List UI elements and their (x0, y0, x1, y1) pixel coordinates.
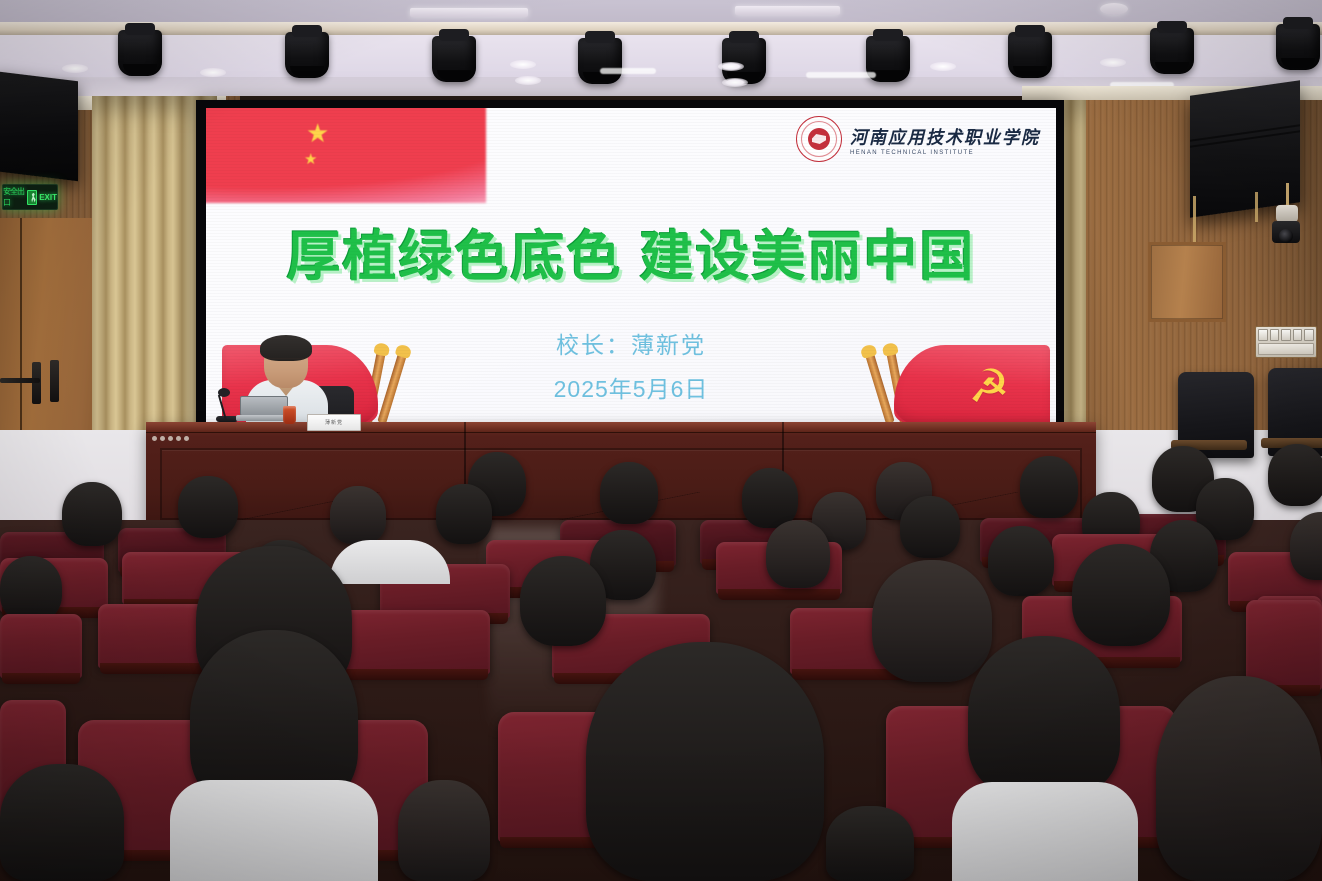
flag-star-icon: ★ (306, 120, 329, 146)
podium-dot (176, 436, 181, 441)
auditorium-photo: 安全出口 EXIT (0, 0, 1322, 881)
audience-head (0, 764, 124, 881)
spotlight (285, 32, 329, 78)
audience-head (1072, 544, 1170, 646)
ceiling-light-strip (600, 68, 656, 74)
door-push-bar[interactable] (0, 378, 40, 383)
institution-logo: 河南应用技术职业学院 HENAN TECHNICAL INSTITUTE (796, 116, 1040, 162)
podium-dot (184, 436, 189, 441)
microphone-head-icon (218, 388, 230, 397)
audience-head (178, 476, 238, 538)
camera-mount (1276, 205, 1298, 222)
recessed-downlight (200, 68, 226, 77)
nameplate-label: 薄新党 (325, 419, 343, 426)
seal-icon (796, 116, 842, 162)
ptz-camera (1270, 205, 1304, 245)
switch-row[interactable] (1258, 329, 1314, 341)
flag-pole-tip-icon (860, 343, 878, 359)
spotlight (1008, 32, 1052, 78)
audience-head (1020, 456, 1078, 518)
audience-shoulders (170, 780, 378, 881)
audience-head (766, 520, 830, 588)
camera-mount-arm (1286, 183, 1289, 207)
side-armchair (1268, 368, 1322, 456)
glasses-icon (268, 358, 304, 366)
audience-head (742, 468, 798, 528)
ceiling-light-strip (806, 72, 876, 78)
light-switch-panel[interactable] (1255, 326, 1317, 358)
side-armchair (1178, 372, 1254, 458)
light-switch[interactable] (1281, 329, 1291, 341)
podium-dot (152, 436, 157, 441)
light-switch[interactable] (1304, 329, 1314, 341)
seal-core-icon (808, 128, 830, 150)
light-switch[interactable] (1258, 329, 1268, 341)
ceiling-soffit-face (0, 35, 1322, 77)
audience-head (600, 462, 658, 524)
institution-name-cn: 河南应用技术职业学院 (850, 122, 1040, 148)
ceiling-light-slot (410, 8, 528, 17)
door-handle[interactable] (50, 360, 59, 402)
audience-head (398, 780, 490, 881)
spotlight (722, 38, 766, 84)
china-flag-graphic (206, 108, 486, 203)
party-flag-graphic-right: ☭ (860, 327, 1050, 423)
nameplate: 薄新党 (307, 414, 361, 431)
recessed-downlight (1100, 58, 1126, 67)
slide-headline: 厚植绿色底色 建设美丽中国 (206, 212, 1056, 291)
speaker-cable (1255, 192, 1258, 222)
audience-head (1268, 444, 1322, 506)
loudspeaker-right (1190, 80, 1300, 217)
flag-pole-tip-icon (882, 342, 899, 357)
door-handle[interactable] (32, 362, 41, 404)
podium-control-dots (152, 436, 189, 441)
tea-cup (283, 406, 296, 424)
recessed-downlight (930, 62, 956, 71)
ceiling-light-slot (735, 6, 840, 15)
exit-sign-label-en: EXIT (39, 193, 57, 202)
ceiling-soffit-edge (0, 22, 1322, 35)
recessed-downlight (62, 64, 88, 73)
audience-head (872, 560, 992, 682)
audience-seat (330, 610, 490, 674)
audience-seat (1246, 600, 1322, 690)
wall-wood-panel (1148, 242, 1226, 322)
spotlight (1276, 24, 1320, 70)
loudspeaker-left (0, 71, 78, 182)
institution-name-en: HENAN TECHNICAL INSTITUTE (850, 150, 974, 156)
audience-head (1156, 676, 1322, 881)
laptop-screen (240, 396, 288, 416)
podium-dot (160, 436, 165, 441)
exit-sign: 安全出口 EXIT (2, 184, 58, 210)
recessed-downlight (722, 78, 748, 87)
spotlight (578, 38, 622, 84)
audience-head (586, 642, 824, 881)
audience-head (436, 484, 492, 544)
audience-head (988, 526, 1054, 596)
audience-head (330, 486, 386, 544)
podium-dot (168, 436, 173, 441)
audience-shoulders (330, 540, 450, 584)
camera-lens (1279, 229, 1293, 243)
running-man-icon (27, 190, 37, 205)
audience-head (968, 636, 1120, 796)
flag-pole-tip-icon (395, 343, 413, 359)
spotlight (1150, 28, 1194, 74)
audience-head (62, 482, 122, 546)
microphone (214, 388, 238, 420)
recessed-downlight (510, 60, 536, 69)
switch-plate[interactable] (1258, 343, 1314, 355)
audience-head (0, 556, 62, 622)
switch-plate-row[interactable] (1258, 343, 1314, 355)
audience-head (826, 806, 914, 881)
flag-star-icon: ★ (304, 152, 317, 167)
spotlight (118, 30, 162, 76)
institution-name-block: 河南应用技术职业学院 HENAN TECHNICAL INSTITUTE (850, 123, 1040, 156)
recessed-downlight (718, 62, 744, 71)
audience-seat (0, 614, 82, 678)
exit-sign-label-cn: 安全出口 (3, 186, 25, 208)
light-switch[interactable] (1270, 329, 1280, 341)
light-switch[interactable] (1293, 329, 1303, 341)
audience-head (520, 556, 606, 646)
ceiling-light-slot (1100, 3, 1128, 15)
audience-shoulders (952, 782, 1138, 881)
recessed-downlight (515, 76, 541, 85)
spotlight (432, 36, 476, 82)
hammer-sickle-icon: ☭ (962, 359, 1016, 413)
flag-pole-tip-icon (373, 342, 390, 357)
presentation-slide: ★ ★ 河南应用技术职业学院 HENAN TECHNICAL INSTITUTE… (206, 108, 1056, 423)
